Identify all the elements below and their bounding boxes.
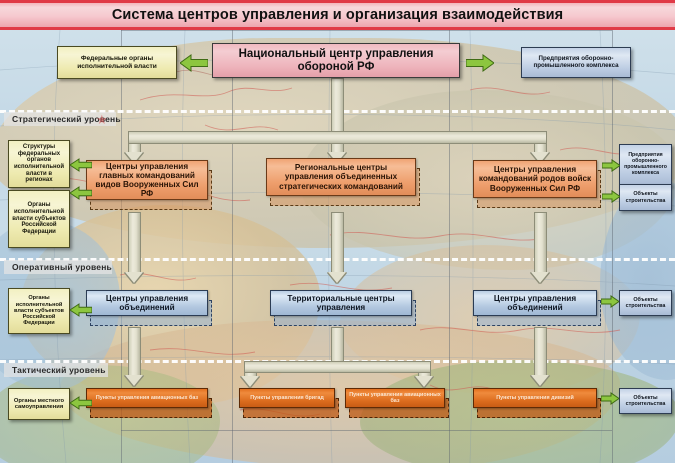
operational-regional-executive-authorities-box[interactable]: Органы исполнительной власти субъектов Р… (8, 288, 70, 334)
strategic-center-regional-osk-label: Региональные центры управления объединен… (267, 163, 415, 191)
column-top-rule (121, 30, 612, 31)
arrow-left-icon-strategic-1 (70, 158, 92, 172)
operational-center-formations-right-box[interactable]: Центры управления объединений (473, 290, 597, 316)
strategic-center-main-commands-label: Центры управления главных командований в… (87, 162, 207, 199)
operational-center-formations-right-label: Центры управления объединений (474, 294, 596, 312)
arrow-down-tact-mid-left (241, 376, 259, 387)
arrow-left-icon-tactical (70, 396, 92, 410)
connector-right-strat-to-op (534, 212, 547, 274)
strategic-center-branch-commands-label: Центры управления командований родов вой… (474, 165, 596, 193)
federal-executive-authorities-label: Федеральные органы исполнительной власти (58, 55, 176, 70)
operational-construction-objects-box[interactable]: Объекты строительства (619, 290, 672, 316)
strategic-construction-objects-label: Объекты строительства (620, 191, 671, 203)
connector-left-strat-to-op (128, 212, 141, 274)
strategic-federal-regional-structures-label: Структуры федеральных органов исполнител… (9, 144, 69, 184)
connector-tactical-bus (244, 361, 431, 373)
arrow-down-tact-right (531, 375, 549, 386)
national-defense-control-center-box[interactable]: Национальный центр управления обороной Р… (212, 43, 460, 78)
strategic-federal-regional-structures-box[interactable]: Структуры федеральных органов исполнител… (8, 140, 70, 188)
tactical-division-control-points-box[interactable]: Пункты управления дивизий (473, 388, 597, 408)
diagram-root: Система центров управления и организация… (0, 0, 675, 463)
page-title-bar: Система центров управления и организация… (0, 0, 675, 30)
tactical-construction-objects-label: Объекты строительства (620, 395, 671, 407)
strategic-defense-industry-label: Предприятия оборонно-промышленного компл… (620, 153, 671, 176)
column-divider-2 (449, 30, 450, 463)
arrow-left-icon-strategic-2 (70, 186, 92, 200)
arrow-left-icon (180, 54, 208, 72)
strategic-regional-executive-authorities-label: Органы исполнительной власти субъектов Р… (9, 202, 69, 236)
operational-territorial-centers-label: Территориальные центры управления (271, 294, 411, 312)
tactical-division-control-points-label: Пункты управления дивизий (493, 395, 577, 401)
level-label-operational: Оперативный уровень (4, 260, 112, 274)
strategic-center-regional-osk-box[interactable]: Региональные центры управления объединен… (266, 158, 416, 196)
tactical-airbase-control-points-left-label: Пункты управления авиационных баз (93, 395, 201, 401)
tactical-brigade-control-points-box[interactable]: Пункты управления бригад (239, 388, 335, 408)
operational-regional-executive-authorities-label: Органы исполнительной власти субъектов Р… (9, 295, 69, 326)
page-title: Система центров управления и организация… (112, 7, 563, 23)
connector-national-down (331, 78, 344, 132)
tactical-brigade-control-points-label: Пункты управления бригад (247, 395, 327, 401)
level-label-tactical: Тактический уровень (4, 363, 108, 377)
arrow-right-icon (466, 54, 494, 72)
operational-center-formations-left-box[interactable]: Центры управления объединений (86, 290, 208, 316)
strategic-regional-executive-authorities-box[interactable]: Органы исполнительной власти субъектов Р… (8, 190, 70, 248)
arrow-right-icon-strategic-1 (602, 159, 620, 172)
arrow-down-tact-left (125, 375, 143, 386)
defense-industry-enterprises-label-top: Предприятия оборонно-промышленного компл… (522, 56, 630, 70)
national-defense-control-center-label: Национальный центр управления обороной Р… (213, 48, 459, 74)
arrow-down-op-mid (328, 272, 346, 283)
connector-mid-strat-to-op (331, 212, 344, 274)
arrow-down-op-left (125, 272, 143, 283)
tactical-airbase-control-points-mid-box[interactable]: Пункты управления авиационных баз (345, 388, 445, 408)
connector-mid-op-down (331, 327, 344, 362)
connector-right-op-to-tact (534, 327, 547, 377)
tactical-local-self-government-box[interactable]: Органы местного самоуправления (8, 388, 70, 420)
arrow-left-icon-operational (70, 303, 92, 317)
strategic-center-main-commands-box[interactable]: Центры управления главных командований в… (86, 160, 208, 200)
strategic-construction-objects-box[interactable]: Объекты строительства (619, 184, 672, 211)
tactical-airbase-control-points-mid-label: Пункты управления авиационных баз (346, 392, 444, 404)
arrow-right-icon-strategic-2 (602, 190, 620, 203)
arrow-right-icon-tactical (601, 392, 619, 405)
federal-executive-authorities-box[interactable]: Федеральные органы исполнительной власти (57, 46, 177, 79)
operational-territorial-centers-box[interactable]: Территориальные центры управления (270, 290, 412, 316)
strategic-defense-industry-box[interactable]: Предприятия оборонно-промышленного компл… (619, 144, 672, 186)
connector-left-op-to-tact (128, 327, 141, 377)
tactical-airbase-control-points-left-box[interactable]: Пункты управления авиационных баз (86, 388, 208, 408)
tactical-construction-objects-box[interactable]: Объекты строительства (619, 388, 672, 414)
arrow-down-op-right (531, 272, 549, 283)
map-marker-star-1: ★ (96, 112, 108, 128)
operational-center-formations-left-label: Центры управления объединений (87, 294, 207, 312)
arrow-right-icon-operational (601, 295, 619, 308)
column-bottom-rule (121, 430, 612, 431)
strategic-center-branch-commands-box[interactable]: Центры управления командований родов вой… (473, 160, 597, 198)
operational-construction-objects-label: Объекты строительства (620, 297, 671, 309)
defense-industry-enterprises-box-top[interactable]: Предприятия оборонно-промышленного компл… (521, 47, 631, 78)
arrow-down-tact-mid-right (415, 376, 433, 387)
tactical-local-self-government-label: Органы местного самоуправления (9, 398, 69, 411)
column-divider-1 (232, 30, 233, 463)
